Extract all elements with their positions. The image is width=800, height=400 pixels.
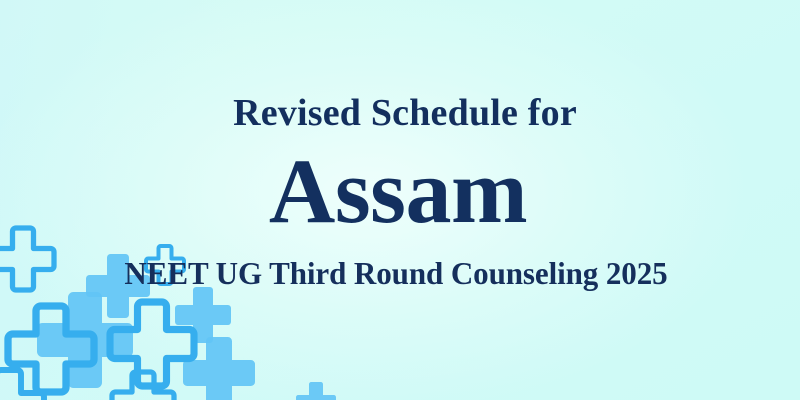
subline-text: NEET UG Third Round Counseling 2025 [8,257,784,289]
headline-text: Assam [0,145,798,237]
title-block: Revised Schedule for Assam NEET UG Third… [0,0,800,400]
banner-image: Revised Schedule for Assam NEET UG Third… [0,0,800,400]
kicker-text: Revised Schedule for [5,94,800,132]
